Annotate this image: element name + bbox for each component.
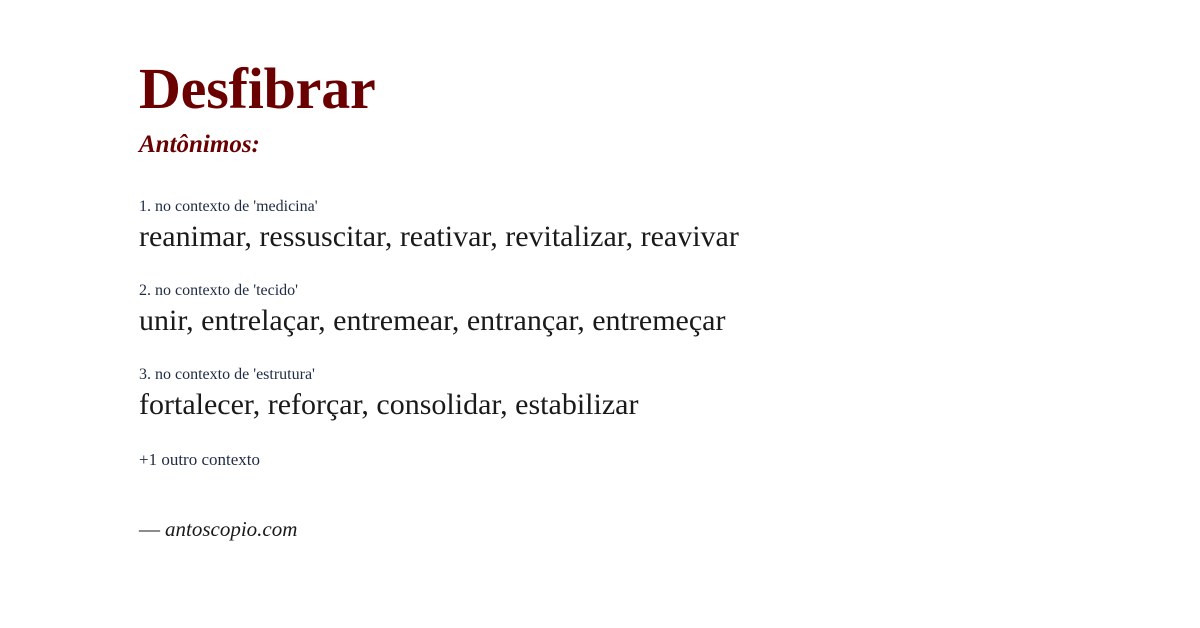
- section-label-antonyms: Antônimos:: [139, 132, 1140, 157]
- more-contexts-note: +1 outro contexto: [139, 451, 1140, 470]
- sense-context-label: 1. no contexto de 'medicina': [139, 198, 1140, 216]
- sense-context-label: 2. no contexto de 'tecido': [139, 282, 1140, 300]
- sense-antonyms: unir, entrelaçar, entremear, entrançar, …: [139, 303, 1140, 340]
- attribution: —antoscopio.com: [139, 518, 1140, 541]
- attribution-source: antoscopio.com: [165, 517, 297, 541]
- sense-list: 1. no contexto de 'medicina' reanimar, r…: [139, 198, 1140, 424]
- sense-antonyms: fortalecer, reforçar, consolidar, estabi…: [139, 387, 1140, 424]
- list-item: 1. no contexto de 'medicina' reanimar, r…: [139, 198, 1140, 255]
- sense-antonyms: reanimar, ressuscitar, reativar, revital…: [139, 219, 1140, 256]
- em-dash-icon: —: [139, 517, 160, 541]
- list-item: 3. no contexto de 'estrutura' fortalecer…: [139, 366, 1140, 423]
- list-item: 2. no contexto de 'tecido' unir, entrela…: [139, 282, 1140, 339]
- page-title: Desfibrar: [139, 60, 1140, 118]
- antonyms-card: Desfibrar Antônimos: 1. no contexto de '…: [0, 0, 1200, 628]
- sense-context-label: 3. no contexto de 'estrutura': [139, 366, 1140, 384]
